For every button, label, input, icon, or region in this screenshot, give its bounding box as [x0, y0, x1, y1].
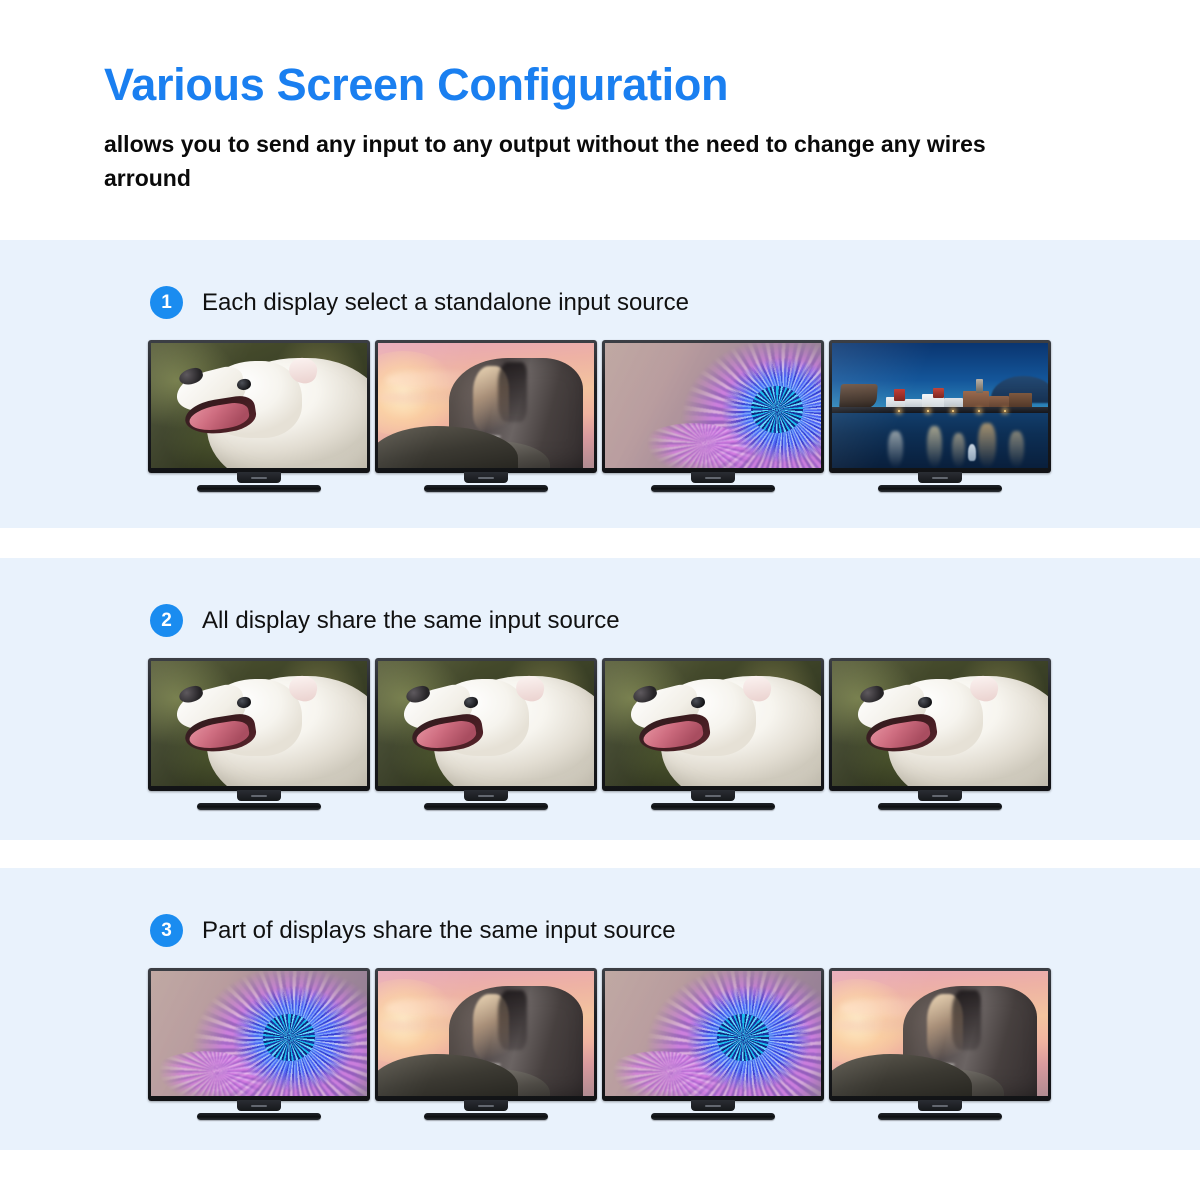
display-2-4[interactable]	[826, 658, 1053, 810]
header: Various Screen Configuration allows you …	[0, 0, 1200, 195]
screen-image-flower	[605, 971, 821, 1096]
tv-stand-base	[197, 485, 321, 492]
display-1-1[interactable]	[145, 340, 372, 492]
step-badge-3: 3	[150, 914, 183, 947]
tv-stand-base	[651, 485, 775, 492]
section-3-display-row	[145, 968, 1053, 1120]
tv-screen-flower	[605, 343, 821, 468]
screen-image-flower	[605, 343, 821, 468]
tv-stand-base	[878, 1113, 1002, 1120]
tv-screen-harbor	[832, 343, 1048, 468]
tv-neck	[918, 472, 962, 483]
display-3-2[interactable]	[372, 968, 599, 1120]
tv-logo	[932, 1105, 948, 1107]
tv-bezel	[375, 968, 597, 1101]
display-2-2[interactable]	[372, 658, 599, 810]
screen-image-cliff	[378, 343, 594, 468]
tv-logo	[705, 477, 721, 479]
tv-neck	[464, 472, 508, 483]
tv-stand-base	[424, 485, 548, 492]
tv-bezel	[829, 658, 1051, 791]
screen-image-dog	[605, 661, 821, 786]
display-2-3[interactable]	[599, 658, 826, 810]
screen-image-flower	[151, 971, 367, 1096]
tv-screen-cliff	[378, 971, 594, 1096]
display-3-4[interactable]	[826, 968, 1053, 1120]
tv-logo	[932, 795, 948, 797]
section-2-heading: 2 All display share the same input sourc…	[150, 604, 620, 637]
section-3-heading: 3 Part of displays share the same input …	[150, 914, 676, 947]
screen-image-dog	[832, 661, 1048, 786]
infographic-page: Various Screen Configuration allows you …	[0, 0, 1200, 1200]
tv-logo	[251, 795, 267, 797]
display-2-1[interactable]	[145, 658, 372, 810]
tv-screen-dog	[151, 343, 367, 468]
screen-image-cliff	[378, 971, 594, 1096]
tv-neck	[464, 790, 508, 801]
tv-screen-flower	[605, 971, 821, 1096]
config-section-2: 2 All display share the same input sourc…	[0, 558, 1200, 840]
display-3-3[interactable]	[599, 968, 826, 1120]
tv-bezel	[602, 340, 824, 473]
screen-image-harbor	[832, 343, 1048, 468]
step-badge-1: 1	[150, 286, 183, 319]
display-1-3[interactable]	[599, 340, 826, 492]
section-1-display-row	[145, 340, 1053, 492]
tv-neck	[918, 1100, 962, 1111]
section-3-label: Part of displays share the same input so…	[202, 917, 676, 945]
screen-image-dog	[378, 661, 594, 786]
tv-bezel	[375, 340, 597, 473]
screen-image-dog	[151, 343, 367, 468]
tv-bezel	[829, 340, 1051, 473]
screen-image-dog	[151, 661, 367, 786]
display-1-2[interactable]	[372, 340, 599, 492]
display-1-4[interactable]	[826, 340, 1053, 492]
tv-neck	[464, 1100, 508, 1111]
tv-neck	[237, 1100, 281, 1111]
tv-stand-base	[197, 803, 321, 810]
tv-logo	[705, 795, 721, 797]
tv-neck	[691, 790, 735, 801]
tv-logo	[705, 1105, 721, 1107]
tv-screen-cliff	[832, 971, 1048, 1096]
tv-stand-base	[424, 803, 548, 810]
tv-screen-dog	[832, 661, 1048, 786]
page-title: Various Screen Configuration	[104, 60, 1200, 110]
tv-bezel	[375, 658, 597, 791]
section-1-label: Each display select a standalone input s…	[202, 289, 689, 317]
tv-logo	[478, 477, 494, 479]
tv-bezel	[148, 340, 370, 473]
section-1-heading: 1 Each display select a standalone input…	[150, 286, 689, 319]
tv-stand-base	[651, 803, 775, 810]
tv-bezel	[148, 658, 370, 791]
tv-logo	[251, 477, 267, 479]
tv-stand-base	[424, 1113, 548, 1120]
tv-neck	[237, 472, 281, 483]
tv-stand-base	[197, 1113, 321, 1120]
config-section-1: 1 Each display select a standalone input…	[0, 240, 1200, 528]
tv-screen-cliff	[378, 343, 594, 468]
page-subtitle: allows you to send any input to any outp…	[104, 127, 1014, 195]
tv-logo	[478, 1105, 494, 1107]
tv-neck	[918, 790, 962, 801]
step-badge-2: 2	[150, 604, 183, 637]
tv-neck	[691, 1100, 735, 1111]
tv-bezel	[602, 658, 824, 791]
tv-logo	[251, 1105, 267, 1107]
tv-neck	[237, 790, 281, 801]
section-2-label: All display share the same input source	[202, 607, 620, 635]
tv-stand-base	[878, 803, 1002, 810]
tv-stand-base	[878, 485, 1002, 492]
tv-logo	[932, 477, 948, 479]
tv-bezel	[602, 968, 824, 1101]
tv-stand-base	[651, 1113, 775, 1120]
screen-image-cliff	[832, 971, 1048, 1096]
tv-screen-flower	[151, 971, 367, 1096]
display-3-1[interactable]	[145, 968, 372, 1120]
tv-screen-dog	[378, 661, 594, 786]
config-section-3: 3 Part of displays share the same input …	[0, 868, 1200, 1150]
tv-screen-dog	[151, 661, 367, 786]
tv-bezel	[148, 968, 370, 1101]
section-2-display-row	[145, 658, 1053, 810]
tv-logo	[478, 795, 494, 797]
tv-neck	[691, 472, 735, 483]
tv-bezel	[829, 968, 1051, 1101]
tv-screen-dog	[605, 661, 821, 786]
